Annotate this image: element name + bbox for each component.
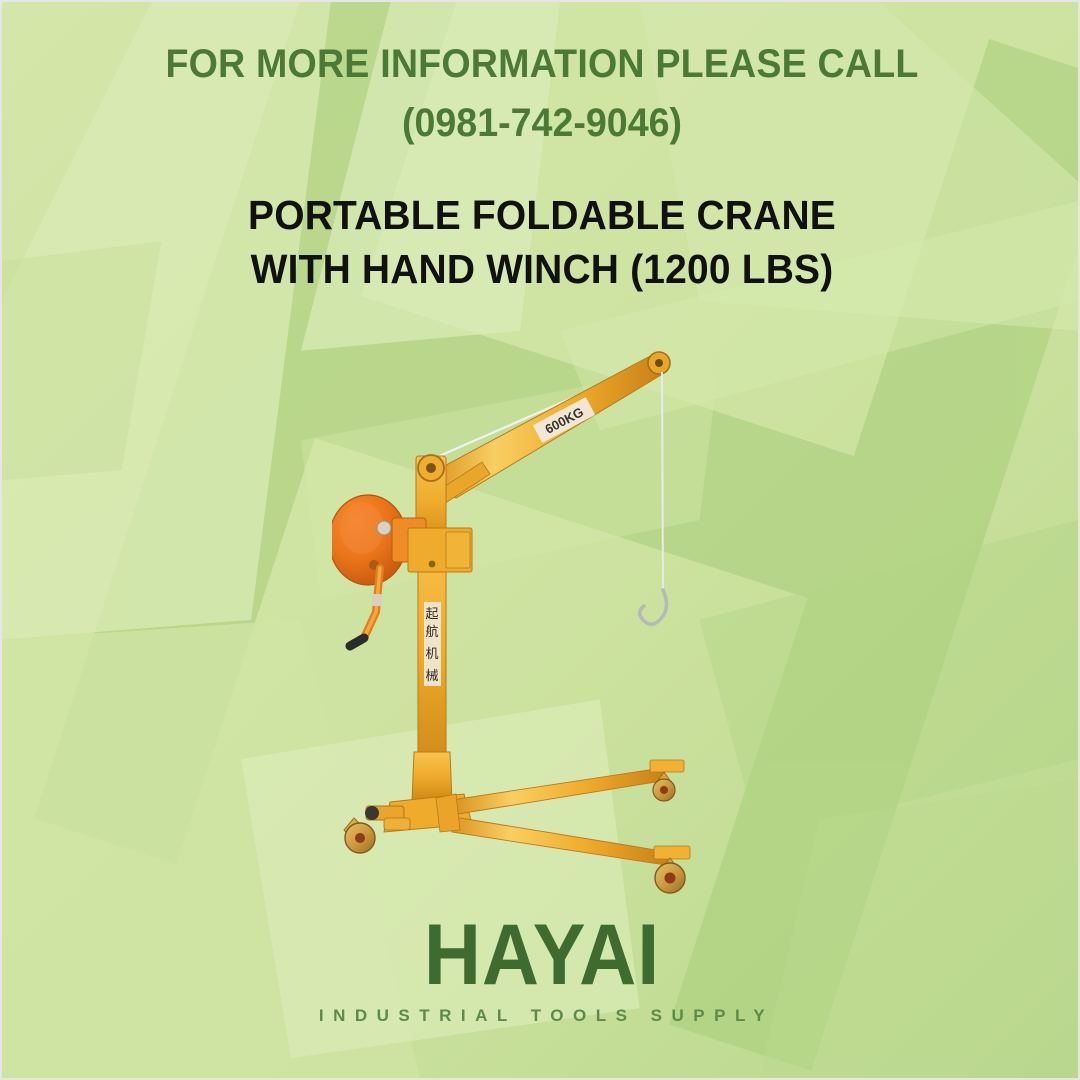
winch-crank-grip [350, 638, 364, 646]
brand-logo: HAYAI INDUSTRIAL TOOLS SUPPLY [2, 915, 1080, 1026]
brand-wordmark: HAYAI [45, 915, 1039, 997]
header-block: FOR MORE INFORMATION PLEASE CALL (0981-7… [2, 42, 1080, 146]
product-title-line-1: PORTABLE FOLDABLE CRANE [29, 188, 1055, 242]
crane-mast: 起 航 机 械 [408, 528, 472, 780]
mast-label-char-3: 机 [425, 647, 438, 662]
lifting-cable-and-hook [640, 372, 667, 624]
product-ad-poster: FOR MORE INFORMATION PLEASE CALL (0981-7… [0, 0, 1080, 1080]
caster-wheel-left [344, 806, 410, 853]
mast-label-char-4: 械 [425, 669, 438, 684]
crane-base [344, 752, 690, 893]
contact-phone-number: (0981-742-9046) [34, 101, 1049, 146]
brand-tagline: INDUSTRIAL TOOLS SUPPLY [2, 1006, 1080, 1026]
outrigger-leg-front [448, 816, 672, 866]
mast-label-char-1: 起 [425, 607, 438, 622]
mast-label-char-2: 航 [425, 624, 438, 640]
crane-boom: 600KG [428, 352, 670, 504]
load-hook [640, 590, 667, 624]
mast-brand-label: 起 航 机 械 [424, 602, 441, 686]
product-title: PORTABLE FOLDABLE CRANE WITH HAND WINCH … [2, 188, 1080, 296]
product-title-line-2: WITH HAND WINCH (1200 LBS) [29, 242, 1055, 296]
contact-call-line: FOR MORE INFORMATION PLEASE CALL [34, 42, 1049, 87]
outrigger-leg-rear [452, 768, 668, 814]
product-image: 600KG [332, 332, 762, 912]
